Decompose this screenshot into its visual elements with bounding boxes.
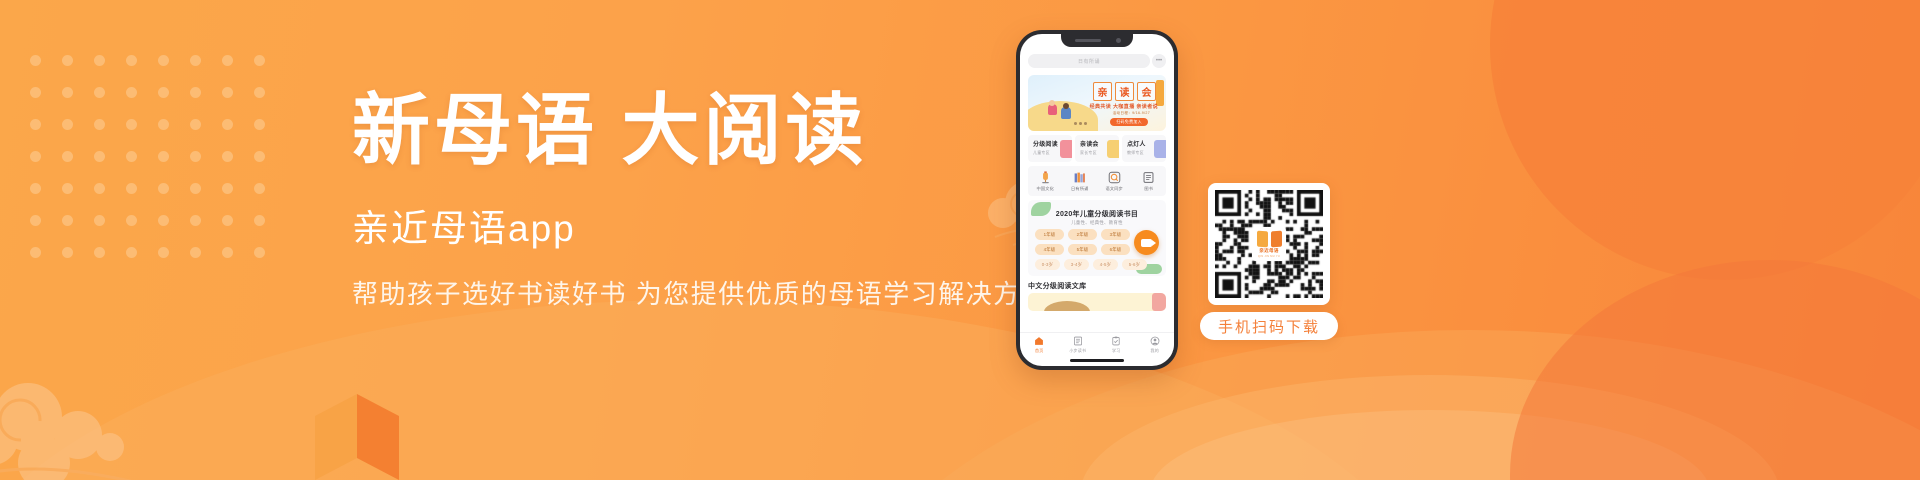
booklist-title: 2020年儿童分级阅读书目 (1028, 209, 1166, 219)
booklist-subtitle: 儿童性、经典性、教育性 (1028, 220, 1166, 226)
grade-pill[interactable]: 6年级 (1101, 244, 1130, 255)
grid-dot (30, 55, 41, 66)
qr-logo-pinyin: QIN JIN MU YU (1258, 255, 1280, 258)
category-card[interactable]: 点灯人教师专区 (1122, 135, 1166, 162)
grid-dot (94, 151, 105, 162)
cloud-swirl-bottom-left-icon (0, 365, 210, 480)
grid-dot (158, 215, 169, 226)
age-pill[interactable]: 3-4岁 (1064, 259, 1089, 270)
grid-dot (30, 87, 41, 98)
grid-dot (30, 151, 41, 162)
nav-item-clipboard[interactable]: 学习 (1097, 333, 1136, 357)
background-blob-bottom-right (1510, 260, 1920, 480)
grid-dot (254, 151, 265, 162)
grid-dot (158, 55, 169, 66)
nav-item-label: 学习 (1112, 348, 1120, 354)
grid-dot (126, 119, 137, 130)
grid-dot (254, 247, 265, 258)
grid-dot (190, 215, 201, 226)
cube-decoration (315, 394, 399, 480)
hero-title-char-2: 读 (1115, 82, 1134, 101)
grid-dot (126, 55, 137, 66)
grid-dot (190, 119, 201, 130)
nav-item-label: 首页 (1035, 348, 1043, 354)
qr-code: 亲近母语 QIN JIN MU YU (1215, 190, 1323, 298)
grid-dot (126, 151, 137, 162)
note-icon (1107, 140, 1119, 158)
nav-item-reading[interactable]: 小步读书 (1059, 333, 1098, 357)
profile-icon (1150, 336, 1160, 346)
bottom-nav-bar: 首页小步读书学习我的 (1020, 332, 1174, 357)
background-blob-top-right (1490, 0, 1920, 280)
phone-mockup: 日有所诵 ••• 亲 读 会 经典共读 大咖直播 亲读者说 活动日程：9/16-… (1016, 30, 1178, 370)
grid-dot (62, 215, 73, 226)
grid-dot (254, 183, 265, 194)
library-title: 中文分级阅读文库 (1028, 281, 1086, 291)
phone-screen: 日有所诵 ••• 亲 读 会 经典共读 大咖直播 亲读者说 活动日程：9/16-… (1020, 34, 1174, 366)
nav-item-home[interactable]: 首页 (1020, 333, 1059, 357)
hero-subtitle: 经典共读 大咖直播 亲读者说 (1090, 103, 1158, 110)
grade-pill[interactable]: 2年级 (1068, 229, 1097, 240)
grid-dot (222, 215, 233, 226)
books-icon (1073, 171, 1086, 184)
grid-dot (158, 183, 169, 194)
grid-dot (62, 119, 73, 130)
search-placeholder: 日有所诵 (1078, 58, 1100, 65)
grid-dot (254, 119, 265, 130)
copy-block: 新母语 大阅读 亲近母语app 帮助孩子选好书读好书 为您提供优质的母语学习解决… (352, 92, 1052, 307)
grade-pill[interactable]: 4年级 (1035, 244, 1064, 255)
grid-dot (30, 119, 41, 130)
grid-dot (94, 55, 105, 66)
tagline: 帮助孩子选好书读好书 为您提供优质的母语学习解决方案 (352, 281, 1052, 307)
grid-dot (94, 119, 105, 130)
search-input[interactable]: 日有所诵 (1028, 54, 1150, 68)
hero-schedule: 活动日程：9/16-9/27 (1113, 111, 1150, 116)
grid-dot (190, 151, 201, 162)
grid-dot (254, 87, 265, 98)
library-block-decoration (1152, 293, 1166, 311)
grid-dot (190, 87, 201, 98)
quick-icon-label: 日有所诵 (1071, 186, 1089, 192)
quick-icon-item[interactable]: 图书 (1132, 166, 1167, 196)
age-pill[interactable]: 4-5岁 (1093, 259, 1118, 270)
grid-dot (222, 151, 233, 162)
home-icon (1034, 336, 1044, 346)
grid-dot (126, 183, 137, 194)
grid-dot (222, 119, 233, 130)
grid-dot (126, 247, 137, 258)
hero-carousel-dots[interactable] (1074, 122, 1087, 125)
grid-dot (126, 87, 137, 98)
library-arc-decoration (1044, 301, 1090, 311)
grid-dot (158, 119, 169, 130)
hero-cta-button[interactable]: 扫码免费加入 (1110, 118, 1148, 126)
more-dots-icon[interactable]: ••• (1152, 54, 1166, 68)
grid-dot (190, 183, 201, 194)
hero-child-illustration-2 (1061, 107, 1071, 119)
grid-dot (94, 247, 105, 258)
app-name-subtitle: 亲近母语app (352, 210, 1052, 247)
grid-dot (62, 247, 73, 258)
grid-dot (190, 55, 201, 66)
category-card[interactable]: 亲读会家长专区 (1075, 135, 1119, 162)
nav-item-label: 小步读书 (1069, 348, 1086, 354)
quick-icon-label: 中国文化 (1036, 186, 1054, 192)
grid-dot (94, 183, 105, 194)
grid-dot (30, 247, 41, 258)
bookmark-icon (1060, 140, 1072, 158)
quick-icon-label: 语文同步 (1105, 186, 1123, 192)
quick-icon-label: 图书 (1144, 186, 1153, 192)
grid-dot (222, 183, 233, 194)
grade-pill[interactable]: 5年级 (1068, 244, 1097, 255)
grid-dot (222, 55, 233, 66)
download-button[interactable]: 手机扫码下载 (1200, 312, 1338, 340)
qr-code-card: 亲近母语 QIN JIN MU YU (1208, 183, 1330, 305)
reading-icon (1073, 336, 1083, 346)
promo-banner: 新母语 大阅读 亲近母语app 帮助孩子选好书读好书 为您提供优质的母语学习解决… (0, 0, 1920, 480)
grid-dot (62, 151, 73, 162)
grid-dot (94, 215, 105, 226)
grid-dot (30, 183, 41, 194)
category-card-list: 分级阅读儿童专区亲读会家长专区点灯人教师专区 (1028, 135, 1166, 162)
grid-dot (30, 215, 41, 226)
quick-icon-item[interactable]: 语文同步 (1097, 166, 1132, 196)
home-indicator (1070, 359, 1124, 362)
grid-dot (158, 87, 169, 98)
grid-dot (222, 87, 233, 98)
qr-logo-name: 亲近母语 (1259, 248, 1279, 254)
age-pill[interactable]: 5-6岁 (1122, 259, 1147, 270)
lantern-icon (1039, 171, 1052, 184)
age-pill[interactable]: 0-3岁 (1035, 259, 1060, 270)
grid-dot (158, 151, 169, 162)
nav-item-label: 我的 (1151, 348, 1159, 354)
grid-dot (126, 215, 137, 226)
grid-dot (158, 247, 169, 258)
grid-dot (62, 87, 73, 98)
grid-dot (190, 247, 201, 258)
hero-banner[interactable]: 亲 读 会 经典共读 大咖直播 亲读者说 活动日程：9/16-9/27 扫码免费… (1028, 75, 1166, 131)
grid-dot (62, 55, 73, 66)
hero-title: 亲 读 会 (1093, 82, 1156, 101)
phone-notch (1061, 34, 1133, 47)
age-row: 0-3岁3-4岁4-5岁5-6岁 (1035, 259, 1159, 270)
quick-icon-item[interactable]: 中国文化 (1028, 166, 1063, 196)
nav-item-profile[interactable]: 我的 (1136, 333, 1175, 357)
category-card[interactable]: 分级阅读儿童专区 (1028, 135, 1072, 162)
grid-dot (94, 87, 105, 98)
grade-pill[interactable]: 3年级 (1101, 229, 1130, 240)
open-book-icon: 亲近母语 QIN JIN MU YU (1252, 227, 1286, 261)
booklist-card[interactable]: 2020年儿童分级阅读书目 儿童性、经典性、教育性 1年级2年级3年级4年级5年… (1028, 200, 1166, 276)
library-card[interactable] (1028, 293, 1166, 311)
grid-dot (222, 247, 233, 258)
video-play-icon[interactable] (1134, 230, 1159, 255)
hero-child-illustration-1 (1048, 104, 1057, 115)
person-icon (1154, 140, 1166, 158)
book-icon (1142, 171, 1155, 184)
grid-dot (254, 55, 265, 66)
hero-title-char-1: 亲 (1093, 82, 1112, 101)
clipboard-icon (1111, 336, 1121, 346)
grid-dot (254, 215, 265, 226)
page-title: 新母语 大阅读 (352, 92, 1052, 170)
quick-icon-item[interactable]: 日有所诵 (1063, 166, 1098, 196)
quick-icon-row: 中国文化日有所诵语文同步图书 (1028, 166, 1166, 196)
grade-pill[interactable]: 1年级 (1035, 229, 1064, 240)
grid-dot (62, 183, 73, 194)
magnifier-icon (1108, 171, 1121, 184)
hero-title-char-3: 会 (1137, 82, 1156, 101)
dot-grid-decoration (30, 55, 286, 279)
